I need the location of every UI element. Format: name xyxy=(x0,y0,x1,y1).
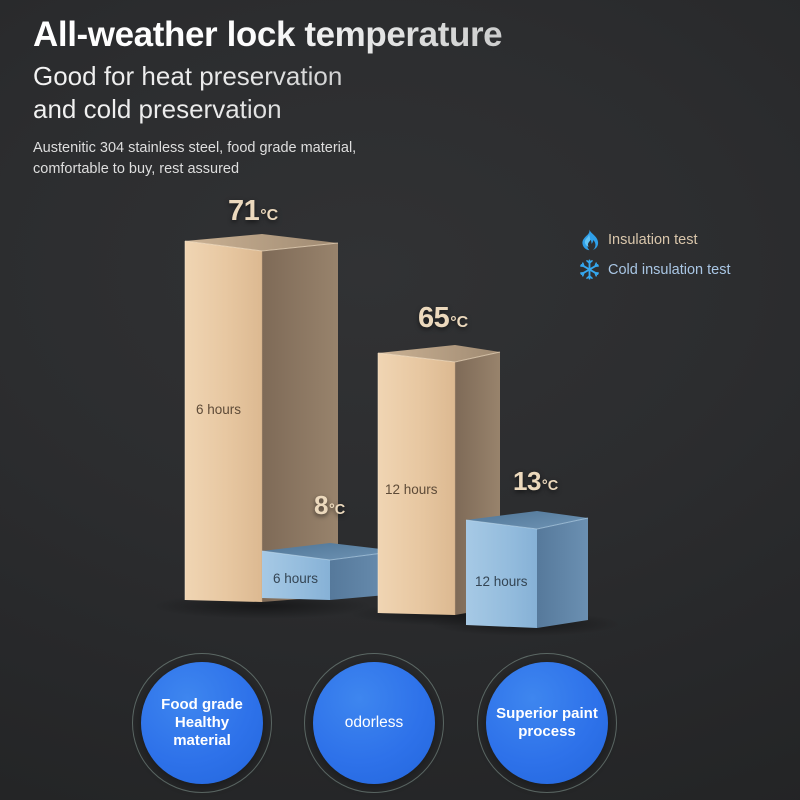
feature-badge-odorless[interactable]: odorless xyxy=(304,653,444,793)
badge-text: odorless xyxy=(339,714,410,733)
snowflake-icon xyxy=(578,259,600,281)
feature-badge-food-grade[interactable]: Food grade Healthy material xyxy=(132,653,272,793)
bar-note-insulation-12-hours: 12 hours xyxy=(385,482,438,497)
badge-disc: Food grade Healthy material xyxy=(141,662,263,784)
badge-text: Food grade Healthy material xyxy=(141,696,263,750)
flame-icon xyxy=(578,229,600,251)
bar-note-cold-12-hours: 12 hours xyxy=(475,574,528,589)
subtitle-line-2: and cold preservation xyxy=(33,93,753,126)
description-text: Austenitic 304 stainless steel, food gra… xyxy=(33,138,356,180)
badge-text-line-1: Superior paint xyxy=(496,705,598,723)
legend-item-cold-insulation: Cold insulation test xyxy=(578,257,731,282)
feature-badge-superior-paint[interactable]: Superior paint process xyxy=(477,653,617,793)
bar-cold-insulation-6-hours xyxy=(262,543,398,600)
bar-insulation-6-hours xyxy=(185,234,338,602)
badge-text: Superior paint process xyxy=(490,705,604,741)
badge-text-line-2: process xyxy=(496,723,598,741)
feature-badges: Food grade Healthy material odorless Sup… xyxy=(0,648,800,798)
chart-legend: Insulation test xyxy=(578,227,731,287)
value-label-insulation-12-hours: 65°C xyxy=(418,302,468,335)
value-label-insulation-6-hours: 71°C xyxy=(228,195,278,228)
subtitle-line-1: Good for heat preservation xyxy=(33,60,753,93)
header-block: All-weather lock temperature Good for he… xyxy=(33,16,753,126)
bar-note-cold-6-hours: 6 hours xyxy=(273,571,318,586)
bar-insulation-12-hours xyxy=(378,345,500,615)
page-subtitle: Good for heat preservation and cold pres… xyxy=(33,60,753,126)
badge-text-line-2: Healthy material xyxy=(147,714,257,750)
value-label-cold-12-hours: 13°C xyxy=(513,466,558,497)
legend-label-cold-insulation: Cold insulation test xyxy=(608,262,731,278)
page-title: All-weather lock temperature xyxy=(33,16,753,54)
description-line-2: comfortable to buy, rest assured xyxy=(33,159,356,180)
badge-text-line-1: Food grade xyxy=(147,696,257,714)
value-label-cold-6-hours: 8°C xyxy=(314,490,345,521)
description-line-1: Austenitic 304 stainless steel, food gra… xyxy=(33,138,356,159)
poster-canvas: All-weather lock temperature Good for he… xyxy=(0,0,800,800)
badge-disc: odorless xyxy=(313,662,435,784)
legend-label-insulation: Insulation test xyxy=(608,232,697,248)
bar-cold-insulation-12-hours xyxy=(466,511,588,628)
badge-text-line-1: odorless xyxy=(345,714,404,733)
bar-note-insulation-6-hours: 6 hours xyxy=(196,402,241,417)
legend-item-insulation: Insulation test xyxy=(578,227,731,252)
badge-disc: Superior paint process xyxy=(486,662,608,784)
